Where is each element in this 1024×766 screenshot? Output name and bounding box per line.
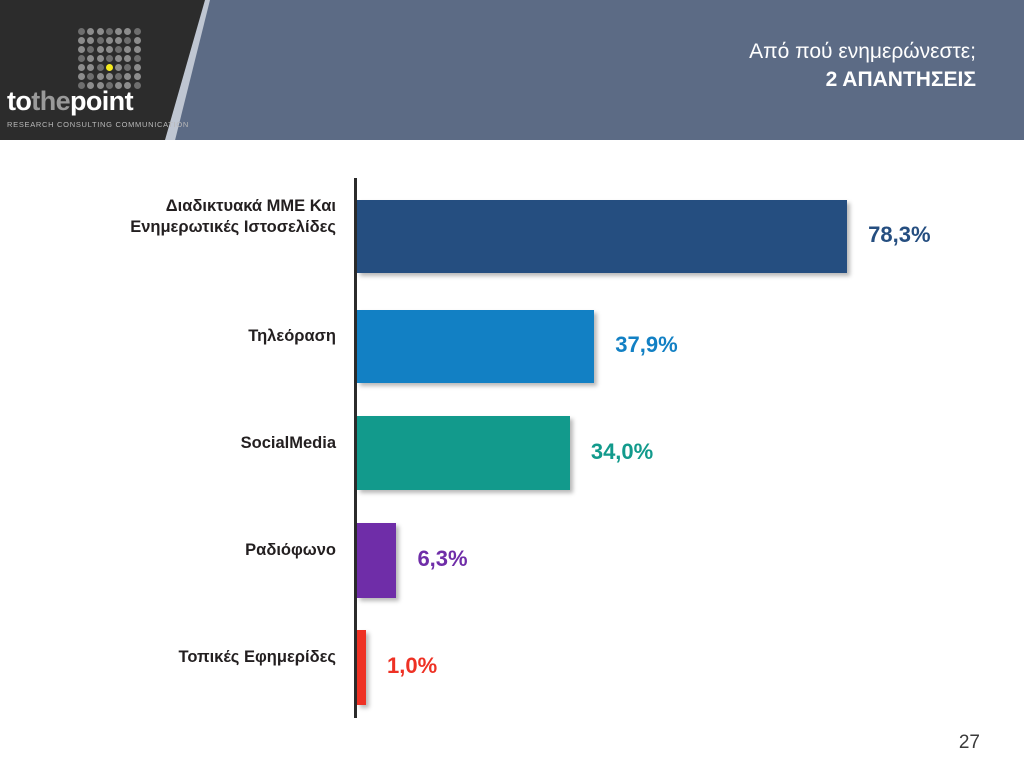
bar-category-label: Τοπικές Εφημερίδες <box>6 647 336 668</box>
bar-category-label: Διαδικτυακά ΜΜΕ Και Ενημερωτικές Ιστοσελ… <box>6 196 336 238</box>
bar-segment[interactable] <box>357 310 594 383</box>
chart-row: Ραδιόφωνο 6,3% <box>0 523 1024 598</box>
slide-title-question: Από πού ενημερώνεστε; <box>749 38 976 66</box>
logo-dot-grid-icon <box>78 28 142 90</box>
bar-value-label: 78,3% <box>868 222 930 248</box>
chart-row: Τηλεόραση 37,9% <box>0 310 1024 383</box>
bar-value-label: 6,3% <box>417 546 467 572</box>
chart-row: Τοπικές Εφημερίδες 1,0% <box>0 630 1024 705</box>
page-number: 27 <box>959 732 980 754</box>
bar-category-label: Τηλεόραση <box>6 326 336 347</box>
chart-row: Διαδικτυακά ΜΜΕ Και Ενημερωτικές Ιστοσελ… <box>0 200 1024 273</box>
slide-title: Από πού ενημερώνεστε; 2 ΑΠΑΝΤΗΣΕΙΣ <box>749 38 976 93</box>
logo-word-the: the <box>31 86 70 116</box>
bar-category-label-line1: SocialMedia <box>6 433 336 454</box>
bar-category-label-line1: Τηλεόραση <box>6 326 336 347</box>
bar-value-label: 37,9% <box>615 332 677 358</box>
bar-category-label-line1: Τοπικές Εφημερίδες <box>6 647 336 668</box>
slide-title-subtitle: 2 ΑΠΑΝΤΗΣΕΙΣ <box>749 66 976 94</box>
bar-value-label: 34,0% <box>591 439 653 465</box>
bar-category-label-line1: Ραδιόφωνο <box>6 540 336 561</box>
bar-value-label: 1,0% <box>387 653 437 679</box>
bar-category-label-line2: Ενημερωτικές Ιστοσελίδες <box>6 217 336 238</box>
logo-wordmark: tothepoint <box>7 88 133 115</box>
bar-chart: Διαδικτυακά ΜΜΕ Και Ενημερωτικές Ιστοσελ… <box>0 140 1024 766</box>
bar-segment[interactable] <box>357 416 570 490</box>
bar-category-label: SocialMedia <box>6 433 336 454</box>
bar-segment[interactable] <box>357 630 366 705</box>
bar-segment[interactable] <box>357 200 847 273</box>
bar-category-label: Ραδιόφωνο <box>6 540 336 561</box>
logo-word-point: point <box>70 86 133 116</box>
bar-segment[interactable] <box>357 523 396 598</box>
bar-category-label-line1: Διαδικτυακά ΜΜΕ Και <box>6 196 336 217</box>
chart-row: SocialMedia 34,0% <box>0 416 1024 490</box>
logo-tagline: RESEARCH CONSULTING COMMUNICATION <box>7 120 189 129</box>
slide-header: tothepoint RESEARCH CONSULTING COMMUNICA… <box>0 0 1024 140</box>
logo-word-to: to <box>7 86 31 116</box>
